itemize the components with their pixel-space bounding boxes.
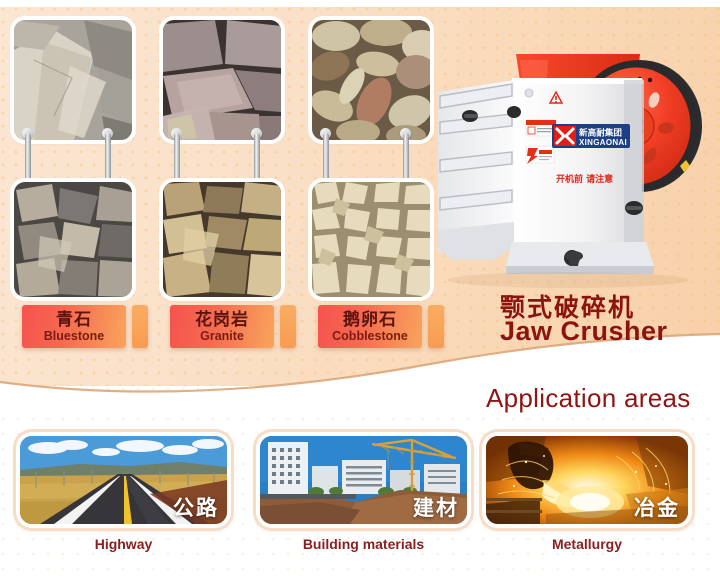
label-side-tab xyxy=(132,305,148,348)
brand-cn-text: 新高耐集团 xyxy=(579,127,622,139)
clip-left-icon xyxy=(22,128,33,190)
application-card-building-materials[interactable]: 建材 xyxy=(256,432,471,528)
clip-right-icon xyxy=(251,128,262,190)
jaw-crusher-illustration: 新高耐集团 XINGAONAI 开机前 请注意 xyxy=(428,30,718,292)
material-column-granite xyxy=(163,20,281,297)
photo-bluestone-crushed xyxy=(14,182,132,297)
application-areas-heading: Application areas xyxy=(486,383,691,414)
label-body: 鹅卵石 Cobblestone xyxy=(318,305,422,348)
application-caption-metallurgy: Metallurgy xyxy=(482,536,692,552)
label-body: 青石 Bluestone xyxy=(22,305,126,348)
construction-photo: 建材 xyxy=(260,436,467,524)
hanger-clips xyxy=(14,140,132,182)
clip-left-icon xyxy=(320,128,331,190)
material-column-cobblestone xyxy=(312,20,430,297)
clip-right-icon xyxy=(400,128,411,190)
card-cn-label: 建材 xyxy=(413,492,459,522)
label-cn: 青石 xyxy=(56,311,92,328)
material-column-bluestone xyxy=(14,20,132,297)
clip-right-icon xyxy=(102,128,113,190)
photo-granite-crushed xyxy=(163,182,281,297)
highway-photo: 公路 xyxy=(20,436,227,524)
photo-cobblestone-crushed xyxy=(312,182,430,297)
label-side-tab xyxy=(428,305,444,348)
machine-warning-text: 开机前 请注意 xyxy=(556,173,613,185)
label-cn: 花岗岩 xyxy=(195,311,249,328)
application-caption-building-materials: Building materials xyxy=(256,536,471,552)
label-cn: 鹅卵石 xyxy=(343,311,397,328)
clip-left-icon xyxy=(171,128,182,190)
product-title-en: Jaw Crusher xyxy=(500,316,668,347)
hanger-clips xyxy=(163,140,281,182)
label-en: Granite xyxy=(200,330,244,343)
label-en: Cobblestone xyxy=(332,330,408,343)
application-card-highway[interactable]: 公路 xyxy=(16,432,231,528)
label-side-tab xyxy=(280,305,296,348)
label-body: 花岗岩 Granite xyxy=(170,305,274,348)
foundry-photo: 冶金 xyxy=(486,436,688,524)
application-caption-highway: Highway xyxy=(16,536,231,552)
card-cn-label: 冶金 xyxy=(634,492,680,522)
label-en: Bluestone xyxy=(44,330,104,343)
card-cn-label: 公路 xyxy=(173,492,219,522)
brand-en-text: XINGAONAI xyxy=(579,138,627,147)
photo-granite-raw xyxy=(163,20,281,140)
photo-bluestone-raw xyxy=(14,20,132,140)
promo-banner: 青石 Bluestone 花岗岩 Granite 鹅卵石 Cobblestone xyxy=(0,0,720,577)
application-card-metallurgy[interactable]: 冶金 xyxy=(482,432,692,528)
hanger-clips xyxy=(312,140,430,182)
photo-cobblestone-raw xyxy=(312,20,430,140)
top-white-strip xyxy=(0,0,720,7)
